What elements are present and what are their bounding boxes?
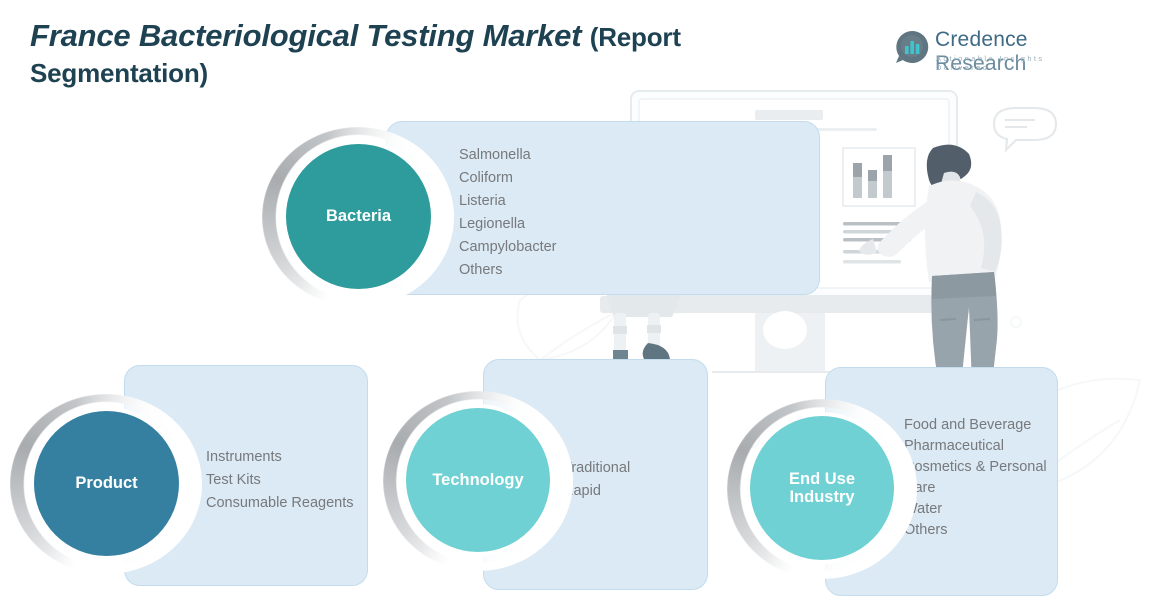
segment-label-product: Product bbox=[34, 411, 179, 556]
list-item: Salmonella bbox=[459, 144, 557, 167]
list-item: Cosmetics & Personal Care bbox=[904, 457, 1054, 499]
logo-tagline: Actionable Insights Delivered bbox=[936, 54, 1095, 72]
list-item: Rapid bbox=[563, 480, 630, 503]
list-item: Test Kits bbox=[206, 469, 354, 492]
segment-node-product[interactable]: Product bbox=[10, 394, 202, 574]
logo-bar-chart-icon bbox=[895, 30, 929, 64]
segment-node-bacteria[interactable]: Bacteria bbox=[262, 127, 454, 307]
standing-person bbox=[859, 145, 1002, 391]
list-item: Consumable Reagents bbox=[206, 492, 354, 515]
list-item: Instruments bbox=[206, 446, 354, 469]
list-item: Others bbox=[459, 259, 557, 282]
logo-word-credence: Credence bbox=[935, 28, 1028, 51]
segment-items-bacteria: Salmonella Coliform Listeria Legionella … bbox=[459, 144, 557, 282]
list-item: Listeria bbox=[459, 190, 557, 213]
list-item: Water bbox=[904, 499, 1054, 520]
list-item: Legionella bbox=[459, 213, 557, 236]
segment-label-enduse-line1: End Use bbox=[789, 470, 855, 488]
segment-label-enduse: End Use Industry bbox=[750, 416, 894, 560]
speech-bubble-icon bbox=[994, 108, 1056, 150]
segment-items-enduse: Food and Beverage Pharmaceutical Cosmeti… bbox=[904, 415, 1054, 541]
segment-items-product: Instruments Test Kits Consumable Reagent… bbox=[206, 446, 354, 515]
segment-label-bacteria: Bacteria bbox=[286, 144, 431, 289]
segment-node-enduse[interactable]: End Use Industry bbox=[727, 399, 917, 579]
brand-logo: Credence Research Actionable Insights De… bbox=[895, 28, 1095, 70]
segment-label-enduse-line2: Industry bbox=[789, 488, 854, 506]
segment-items-technology: Traditional Rapid bbox=[563, 457, 630, 503]
list-item: Traditional bbox=[563, 457, 630, 480]
list-item: Coliform bbox=[459, 167, 557, 190]
seated-person-legs bbox=[606, 293, 682, 359]
list-item: Campylobacter bbox=[459, 236, 557, 259]
list-item: Food and Beverage bbox=[904, 415, 1054, 436]
infographic-canvas: France Bacteriological Testing Market (R… bbox=[0, 0, 1162, 616]
page-title: France Bacteriological Testing Market (R… bbox=[30, 18, 830, 91]
list-item: Others bbox=[904, 520, 1054, 541]
list-item: Pharmaceutical bbox=[904, 436, 1054, 457]
segment-node-technology[interactable]: Technology bbox=[383, 391, 573, 571]
segment-label-technology: Technology bbox=[406, 408, 550, 552]
page-title-italic: France Bacteriological Testing Market bbox=[30, 18, 590, 53]
